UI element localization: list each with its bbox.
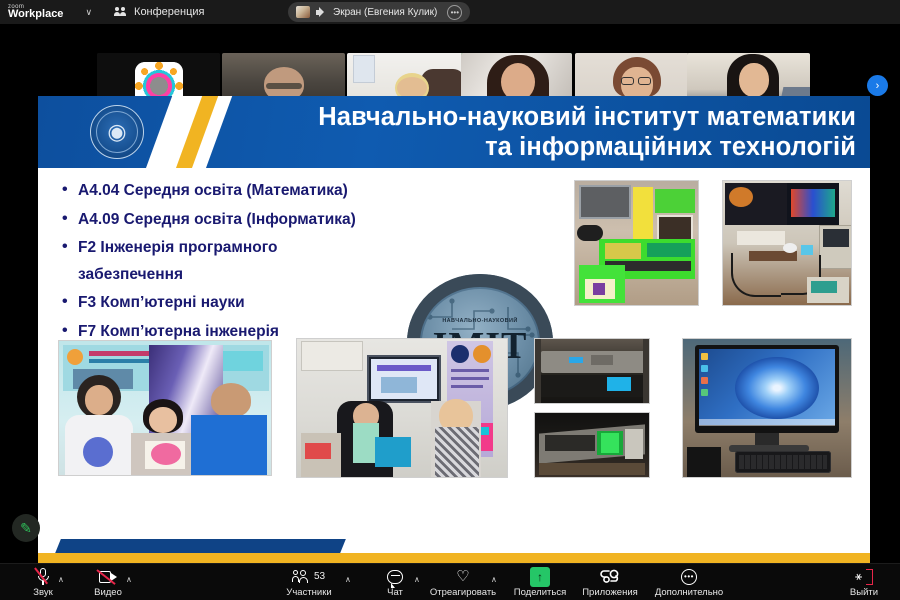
walking-person-glyph: ⚹ bbox=[855, 570, 862, 582]
chat-bubble-icon bbox=[387, 567, 403, 586]
slide-photo-desktop-monitor bbox=[682, 338, 852, 478]
toolbar-label-more: Дополнительно bbox=[655, 587, 723, 598]
zoom-logo-main: Workplace bbox=[8, 9, 63, 20]
slide-photo-electronics-kit bbox=[574, 180, 699, 306]
window-title-bar: zoom Workplace ∨ Конференция Экран (Евге… bbox=[0, 0, 900, 24]
footer-yellow-bar bbox=[38, 553, 870, 563]
meeting-tab[interactable]: Конференция bbox=[114, 6, 204, 18]
filmstrip-next-button[interactable]: › bbox=[867, 75, 888, 96]
annotate-pencil-icon[interactable]: ✎ bbox=[12, 514, 40, 542]
share-indicator-label: Экран (Евгения Кулик) bbox=[333, 7, 437, 18]
toolbar-button-reactions[interactable]: ♡ Отреагировать bbox=[428, 567, 498, 598]
list-item-text: F2 Інженерія програмного bbox=[78, 239, 277, 256]
list-item-text: F3 Комп’ютерні науки bbox=[78, 294, 245, 311]
slide-photo-server-rack-front bbox=[534, 338, 650, 404]
heart-glyph: ♡ bbox=[456, 569, 469, 584]
participant-filmstrip: ЛНУ імені Тараса Шев… Володимир Заблоцьк… bbox=[0, 25, 900, 95]
toolbar-button-participants[interactable]: 53 Участники bbox=[274, 567, 344, 598]
slide-header: ◉ Навчально-науковий інститут математики… bbox=[38, 96, 870, 168]
screen-share-indicator[interactable]: Экран (Евгения Кулик) ••• bbox=[288, 2, 470, 22]
apps-glyph bbox=[600, 569, 620, 584]
meeting-tab-label: Конференция bbox=[134, 6, 204, 18]
toolbar-label-reactions: Отреагировать bbox=[430, 587, 496, 598]
university-crest-icon: ◉ bbox=[90, 105, 144, 159]
owl-icon: ◉ bbox=[107, 121, 126, 143]
audio-options-caret-icon[interactable]: ∧ bbox=[58, 575, 64, 584]
camera-off-icon bbox=[99, 567, 117, 586]
slide-photo-oscilloscope-workstation bbox=[722, 180, 852, 306]
toolbar-button-apps[interactable]: Приложения bbox=[575, 567, 645, 598]
program-list: A4.04 Середня освіта (Математика) A4.09 … bbox=[60, 183, 420, 352]
slide-title: Навчально-науковий інститут математики т… bbox=[238, 102, 856, 162]
toolbar-button-share[interactable]: ↑ Поделиться bbox=[505, 567, 575, 598]
toolbar-label-chat: Чат bbox=[387, 587, 403, 598]
speaker-icon bbox=[316, 7, 327, 18]
toolbar-label-audio: Звук bbox=[33, 587, 52, 598]
participants-count-badge: 53 bbox=[314, 571, 325, 582]
toolbar-button-video[interactable]: Видео bbox=[73, 567, 143, 598]
list-item: F7 Комп’ютерна інженерія bbox=[60, 324, 420, 340]
list-item-text: F7 Комп’ютерна інженерія bbox=[78, 323, 279, 340]
list-item-text: A4.09 Середня освіта (Інформатика) bbox=[78, 211, 356, 228]
list-item: A4.09 Середня освіта (Інформатика) bbox=[60, 212, 420, 228]
list-item-text-continued: забезпечення bbox=[78, 267, 420, 283]
toolbar-button-more[interactable]: ••• Дополнительно bbox=[645, 567, 733, 598]
heart-icon: ♡ bbox=[456, 567, 469, 586]
toolbar-label-participants: Участники bbox=[286, 587, 331, 598]
slide-footer-decoration bbox=[38, 539, 870, 563]
list-item: F2 Інженерія програмногозабезпечення bbox=[60, 240, 420, 282]
share-more-icon[interactable]: ••• bbox=[447, 5, 462, 20]
reactions-options-caret-icon[interactable]: ∧ bbox=[491, 575, 497, 584]
share-arrow-glyph: ↑ bbox=[530, 567, 550, 587]
slide-title-line1: Навчально-науковий інститут математики bbox=[318, 103, 856, 131]
meeting-controls-toolbar: Звук ∧ Видео ∧ 53 Участники ∧ Чат ∧ bbox=[0, 563, 900, 600]
more-dots-glyph: ••• bbox=[681, 569, 697, 585]
slide-photo-server-internals bbox=[534, 412, 650, 478]
share-screen-icon: ↑ bbox=[530, 567, 550, 586]
exit-door-icon: ⚹ bbox=[855, 567, 873, 586]
chevron-down-icon[interactable]: ∨ bbox=[85, 7, 92, 18]
toolbar-label-share: Поделиться bbox=[514, 587, 566, 598]
share-thumbnail-icon bbox=[296, 6, 310, 18]
slide-photo-robotics-presentation bbox=[296, 338, 508, 478]
slide-title-line2: та інформаційних технологій bbox=[238, 132, 856, 162]
slide-body: A4.04 Середня освіта (Математика) A4.09 … bbox=[38, 168, 870, 563]
list-item: F3 Комп’ютерні науки bbox=[60, 295, 420, 311]
participants-icon bbox=[293, 570, 310, 584]
list-item-text: A4.04 Середня освіта (Математика) bbox=[78, 182, 348, 199]
zoom-meeting-window: zoom Workplace ∨ Конференция Экран (Евге… bbox=[0, 0, 900, 600]
participants-options-caret-icon[interactable]: ∧ bbox=[345, 575, 351, 584]
toolbar-button-leave[interactable]: ⚹ Выйти bbox=[838, 567, 890, 598]
participants-icon-group: 53 bbox=[293, 567, 325, 586]
more-dots-icon: ••• bbox=[681, 567, 697, 586]
people-icon bbox=[114, 7, 127, 18]
video-options-caret-icon[interactable]: ∧ bbox=[126, 575, 132, 584]
list-item: A4.04 Середня освіта (Математика) bbox=[60, 183, 420, 199]
slide-photo-students-with-flag bbox=[58, 340, 272, 476]
toolbar-label-leave: Выйти bbox=[850, 587, 878, 598]
toolbar-label-video: Видео bbox=[94, 587, 122, 598]
toolbar-label-apps: Приложения bbox=[582, 587, 638, 598]
zoom-logo: zoom Workplace bbox=[8, 4, 63, 20]
chat-options-caret-icon[interactable]: ∧ bbox=[414, 575, 420, 584]
microphone-muted-icon bbox=[38, 567, 49, 586]
apps-icon bbox=[600, 567, 620, 586]
toolbar-button-audio[interactable]: Звук bbox=[8, 567, 78, 598]
shared-screen-slide: ◉ Навчально-науковий інститут математики… bbox=[38, 96, 870, 563]
